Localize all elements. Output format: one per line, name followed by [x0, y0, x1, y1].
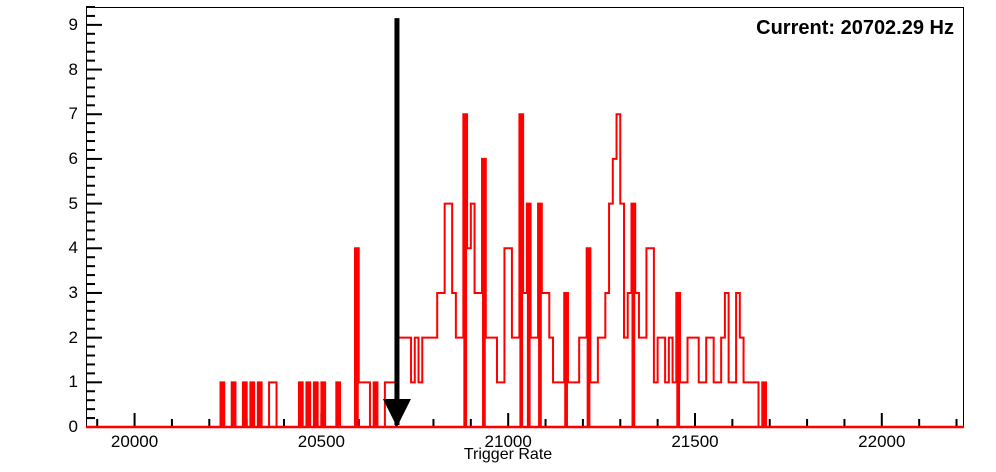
arrow-head-triangle — [383, 399, 411, 427]
current-value-arrow — [383, 18, 411, 427]
x-tick-label: 20500 — [276, 433, 366, 450]
plot-vector-layer — [0, 0, 996, 472]
histogram-fill — [86, 114, 964, 427]
current-rate-readout: Current: 20702.29 Hz — [756, 17, 954, 40]
y-tick-label: 5 — [52, 195, 78, 212]
y-tick-label: 0 — [52, 418, 78, 435]
x-axis-title: Trigger Rate — [418, 446, 598, 464]
y-tick-label: 8 — [52, 61, 78, 78]
y-tick-label: 1 — [52, 373, 78, 390]
histogram-outline — [221, 114, 766, 427]
x-tick-label: 20000 — [90, 433, 180, 450]
y-tick-label: 3 — [52, 284, 78, 301]
x-tick-label: 21500 — [650, 433, 740, 450]
y-tick-label: 6 — [52, 150, 78, 167]
y-tick-label: 9 — [52, 16, 78, 33]
x-tick-label: 22000 — [837, 433, 927, 450]
y-tick-label: 7 — [52, 105, 78, 122]
y-axis-major-ticks — [86, 25, 102, 427]
histogram-canvas: 0123456789 2000020500210002150022000 Tri… — [0, 0, 996, 472]
y-tick-label: 4 — [52, 239, 78, 256]
y-tick-label: 2 — [52, 329, 78, 346]
